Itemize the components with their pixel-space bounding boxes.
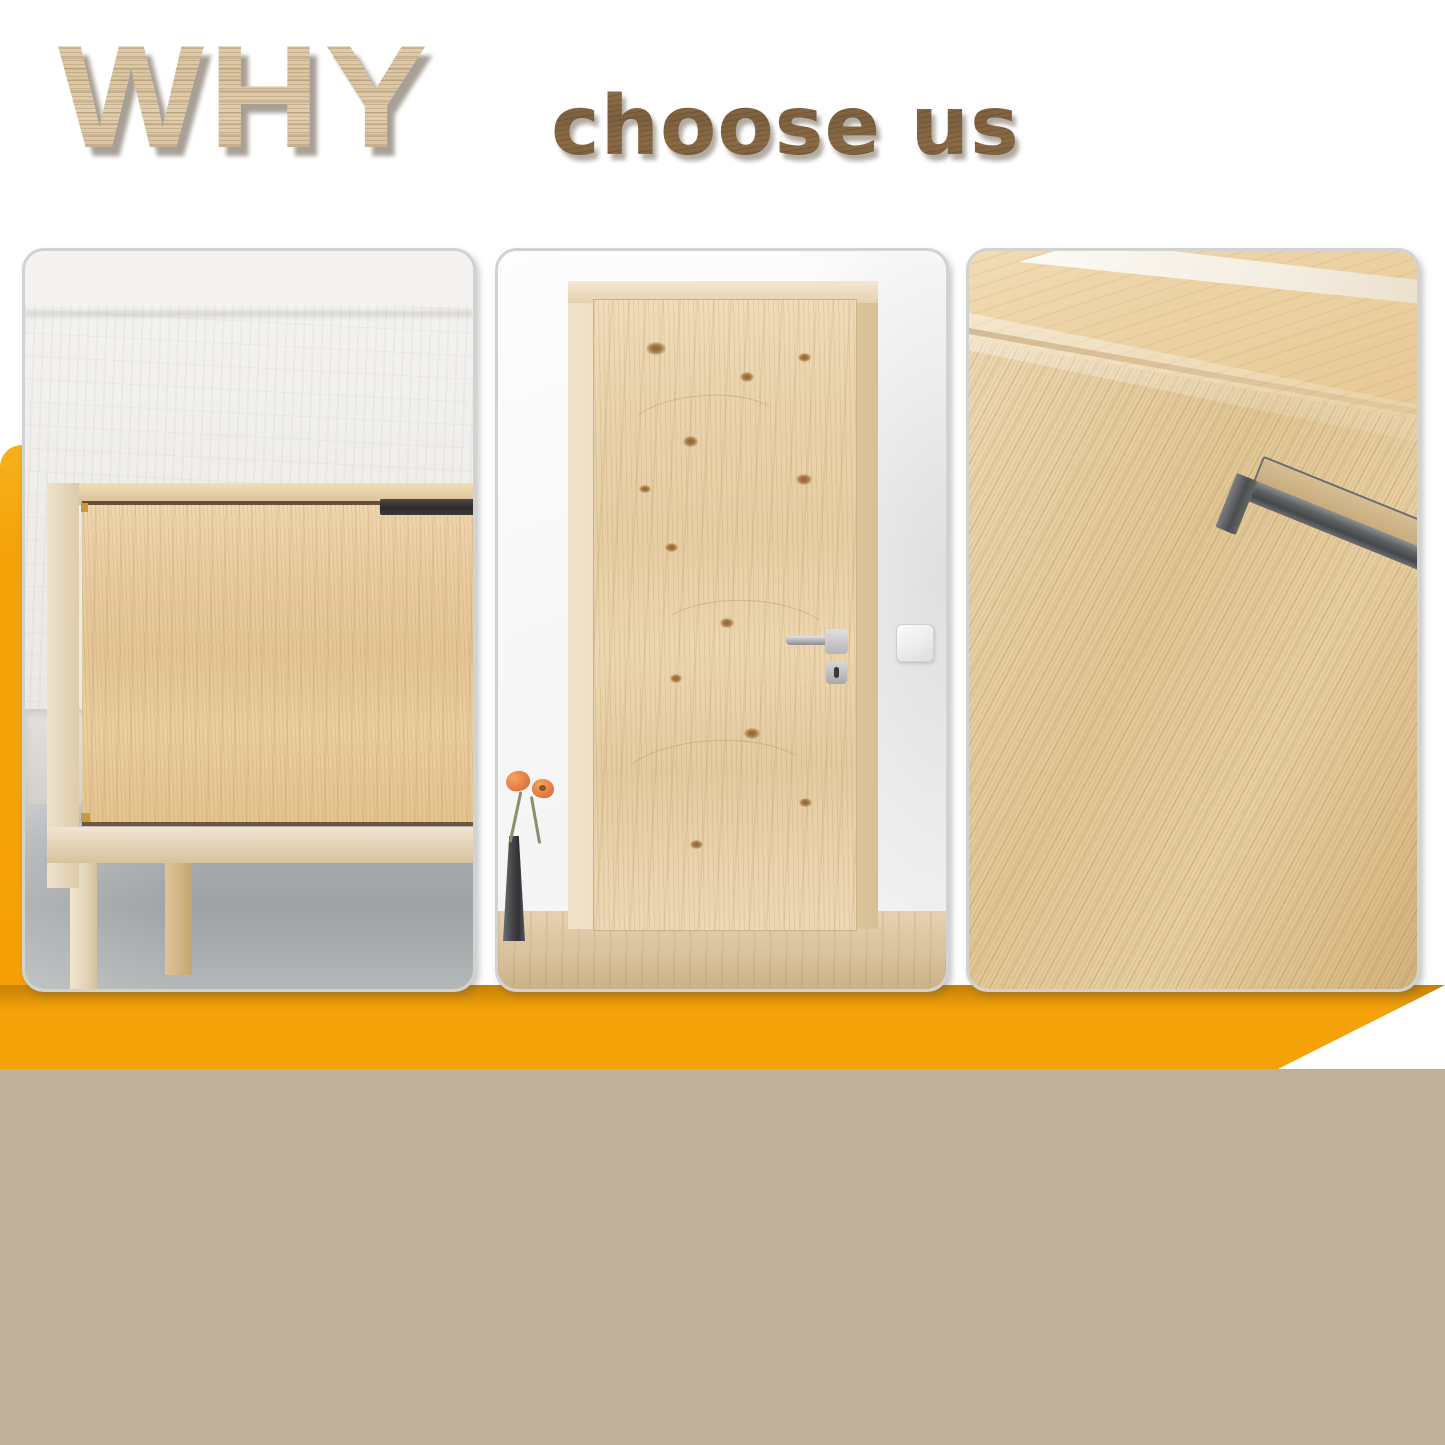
cabinet-sideboard-photo — [22, 248, 476, 992]
wood-knot-icon — [740, 372, 754, 382]
wood-grain-arc — [622, 389, 789, 472]
drawer-edge-closeup-photo — [966, 248, 1420, 992]
keyhole-icon — [834, 667, 839, 678]
wood-knot-icon — [744, 728, 760, 739]
wood-knot-icon — [798, 353, 811, 362]
wood-knot-icon — [665, 543, 678, 552]
interior-door-photo — [495, 248, 949, 992]
door-leaf — [593, 299, 857, 931]
drawer-bottom-gap — [82, 822, 473, 826]
light-switch-rocker[interactable] — [902, 630, 926, 654]
wood-knot-icon — [796, 474, 812, 485]
wood-knot-icon — [690, 840, 703, 849]
wood-knot-icon — [670, 674, 682, 683]
promo-banner: WHY choose us — [0, 0, 1445, 1445]
wall-seam-line — [25, 311, 473, 317]
wood-knot-icon — [639, 485, 651, 493]
feature-list-panel: HIGH QUALITY MATERIAL NATURE MAPLE WOOD … — [0, 1069, 1445, 1445]
hinge-lower — [81, 813, 90, 822]
wood-knot-icon — [646, 342, 666, 355]
door-handle-rose — [825, 629, 848, 654]
poppy-center — [539, 785, 546, 791]
cabinet-bar-handle — [380, 499, 476, 515]
hinge-upper — [81, 503, 88, 512]
photo-gallery — [0, 0, 1445, 1000]
cabinet-drawer-front — [82, 503, 473, 825]
cabinet-leg-right — [165, 857, 192, 975]
wood-grain-arc — [612, 735, 819, 837]
cabinet-frame-bottom — [47, 827, 473, 863]
